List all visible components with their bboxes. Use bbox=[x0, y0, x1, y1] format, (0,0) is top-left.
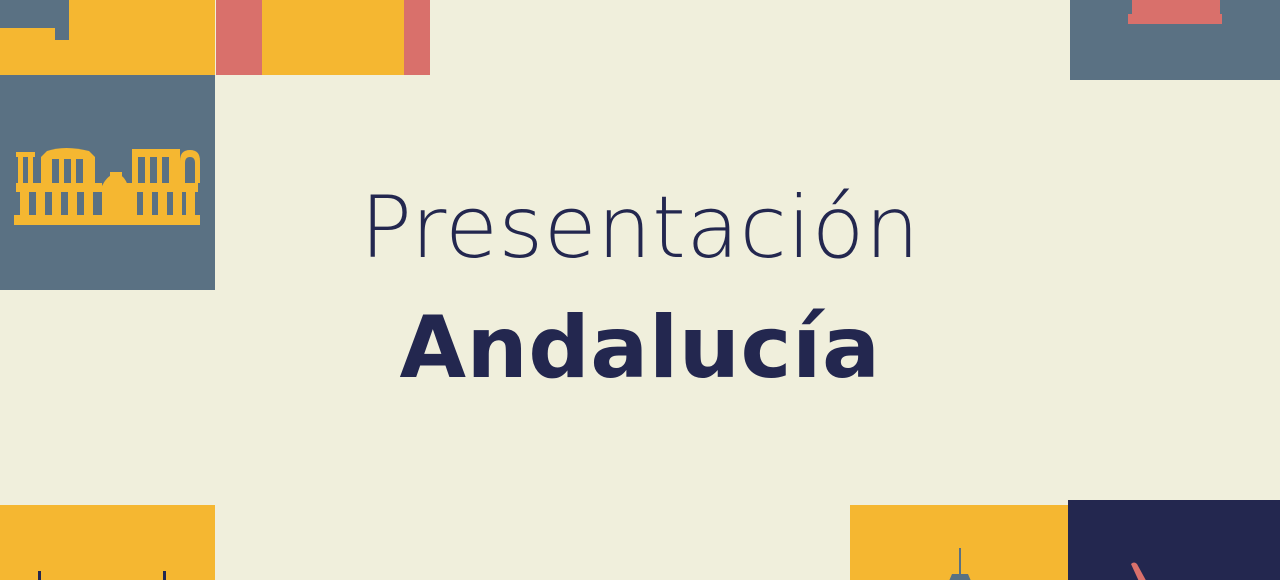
monument-pedestal-icon bbox=[216, 0, 430, 75]
decor-tile-bottom-left bbox=[0, 505, 215, 580]
decor-tile-top-right bbox=[1070, 0, 1280, 80]
decor-tile-top-monument bbox=[216, 0, 430, 75]
flamenco-dancer-icon bbox=[1068, 560, 1280, 580]
slide-title-primary: Presentación bbox=[0, 185, 1280, 271]
decor-tile-bottom-tower bbox=[850, 505, 1068, 580]
decor-tile-top-left bbox=[0, 0, 215, 75]
giralda-tower-icon bbox=[850, 540, 1068, 580]
slide-title-block: Presentación Andalucía bbox=[0, 185, 1280, 391]
cathedral-spires-icon bbox=[0, 559, 215, 580]
arch-bridge-icon bbox=[0, 0, 215, 75]
presentation-slide: Presentación Andalucía bbox=[0, 0, 1280, 580]
slide-title-secondary: Andalucía bbox=[0, 305, 1280, 391]
decor-tile-bottom-right bbox=[1068, 500, 1280, 580]
palace-building-icon bbox=[1070, 0, 1280, 38]
